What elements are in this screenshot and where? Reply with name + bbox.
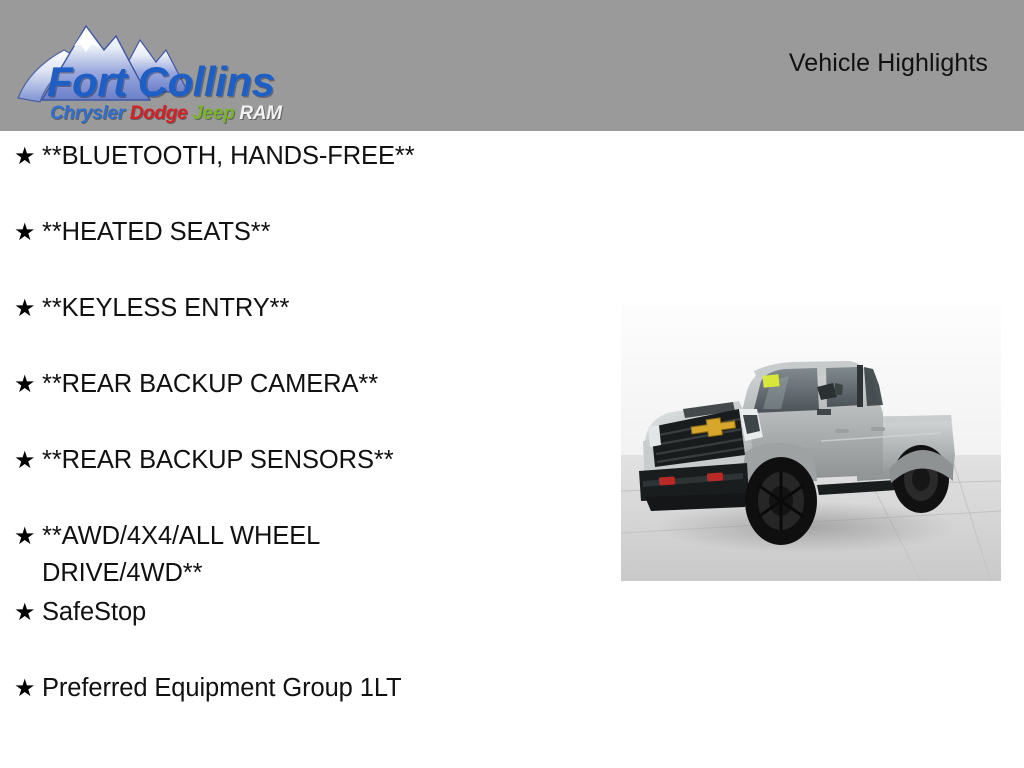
brand-ram: RAM [239,103,281,124]
dealer-logo[interactable]: Fort Collins Chrysler Dodge Jeep RAM [16,6,296,126]
vehicle-highlights-list: ★**BLUETOOTH, HANDS-FREE**★**HEATED SEAT… [0,131,600,739]
vehicle-photo-image [621,305,1001,581]
highlight-item: ★**KEYLESS ENTRY** [0,283,600,359]
brand-jeep: Jeep [192,103,234,124]
highlight-label: **REAR BACKUP SENSORS** [42,435,472,479]
brand-chrysler: Chrysler [50,103,125,124]
highlight-label: **BLUETOOTH, HANDS-FREE** [42,131,472,175]
page-title: Vehicle Highlights [789,49,988,78]
star-bullet-icon: ★ [14,131,42,174]
highlight-item: ★**HEATED SEATS** [0,207,600,283]
star-bullet-icon: ★ [14,359,42,402]
brand-dodge: Dodge [130,103,188,124]
header-bar: Fort Collins Chrysler Dodge Jeep RAM Veh… [0,0,1024,131]
vehicle-photo[interactable] [621,305,1001,581]
logo-brands: Chrysler Dodge Jeep RAM [50,104,282,123]
highlight-item: ★SafeStop [0,587,600,663]
highlight-item: ★**REAR BACKUP CAMERA** [0,359,600,435]
star-bullet-icon: ★ [14,511,42,554]
star-bullet-icon: ★ [14,587,42,630]
logo-wordmark: Fort Collins [47,61,274,103]
highlight-item: ★**AWD/4X4/ALL WHEEL DRIVE/4WD** [0,511,600,587]
highlight-item: ★Preferred Equipment Group 1LT [0,663,600,739]
star-bullet-icon: ★ [14,663,42,706]
star-bullet-icon: ★ [14,207,42,250]
star-bullet-icon: ★ [14,435,42,478]
highlight-item: ★**BLUETOOTH, HANDS-FREE** [0,131,600,207]
highlight-item: ★**REAR BACKUP SENSORS** [0,435,600,511]
highlight-label: Preferred Equipment Group 1LT [42,663,472,707]
highlight-label: **HEATED SEATS** [42,207,472,251]
highlight-label: **KEYLESS ENTRY** [42,283,472,327]
highlight-label: SafeStop [42,587,472,631]
star-bullet-icon: ★ [14,283,42,326]
highlight-label: **AWD/4X4/ALL WHEEL DRIVE/4WD** [42,511,472,592]
highlight-label: **REAR BACKUP CAMERA** [42,359,472,403]
